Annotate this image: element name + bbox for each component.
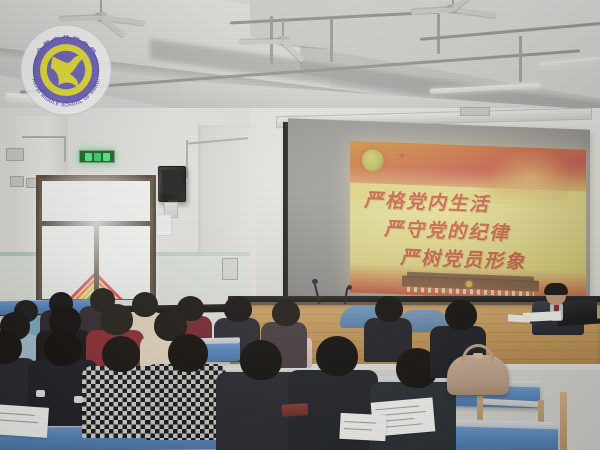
ceiling-fan xyxy=(238,18,328,46)
exit-door-icon xyxy=(103,153,110,161)
person-head xyxy=(316,336,358,376)
handbag xyxy=(447,355,509,395)
wall-speaker xyxy=(158,166,186,202)
running-man-icon xyxy=(94,153,101,161)
svg-text:SINCE 1956: SINCE 1956 xyxy=(55,90,76,94)
cup xyxy=(74,396,83,403)
microphone-icon xyxy=(312,279,318,284)
speaker-grill xyxy=(162,170,182,194)
presenter-hair xyxy=(544,283,568,295)
person-head xyxy=(132,292,158,317)
emergency-exit-sign xyxy=(79,150,115,163)
presentation-slide: 严格党内生活 严守党的纪律 严树党员形象 xyxy=(350,141,586,302)
paper-sheet xyxy=(339,413,386,441)
person-head xyxy=(272,300,300,326)
lecture-hall-photo: 严格党内生活 严守党的纪律 严树党员形象 xyxy=(0,0,600,450)
person-head xyxy=(102,336,140,372)
handbag-clasp xyxy=(473,353,483,358)
wall-notice xyxy=(156,214,173,237)
slide-building-emblem xyxy=(466,281,472,287)
exit-arrow-icon xyxy=(85,153,92,161)
wall-control-panel xyxy=(222,258,238,280)
school-emblem-watermark: 合 肥 市 某 某 中 学 HEFEI MIDDLE SCHOOL OF ANH… xyxy=(18,22,114,118)
ceiling-pipe-riser xyxy=(330,18,333,62)
wall-conduit xyxy=(64,136,66,162)
desk-leg xyxy=(560,392,567,450)
electrical-box xyxy=(6,148,24,161)
door-pane-left xyxy=(42,226,94,299)
wall-conduit xyxy=(186,140,188,178)
paper-sheet xyxy=(0,404,49,438)
cup xyxy=(36,390,45,397)
person-head xyxy=(240,340,282,380)
person-head xyxy=(445,300,477,330)
person-head xyxy=(44,330,82,366)
door-transom-window xyxy=(42,181,150,221)
person-head xyxy=(375,296,403,322)
microphone-icon xyxy=(347,285,352,290)
ceiling-fan xyxy=(408,0,498,24)
person-head xyxy=(168,334,208,372)
screen-housing-bracket xyxy=(460,107,490,116)
podium-papers xyxy=(508,314,530,323)
entrance-door[interactable] xyxy=(36,175,156,305)
ceiling-pipe-riser xyxy=(519,36,522,82)
door-glass-panels xyxy=(42,226,150,299)
person-torso xyxy=(146,364,226,440)
rainbow-arch-decoration xyxy=(42,252,94,299)
person-head xyxy=(100,304,133,335)
electrical-box xyxy=(10,176,24,187)
red-notebook xyxy=(282,403,309,417)
wall-conduit xyxy=(22,136,66,138)
person-head xyxy=(224,296,252,322)
